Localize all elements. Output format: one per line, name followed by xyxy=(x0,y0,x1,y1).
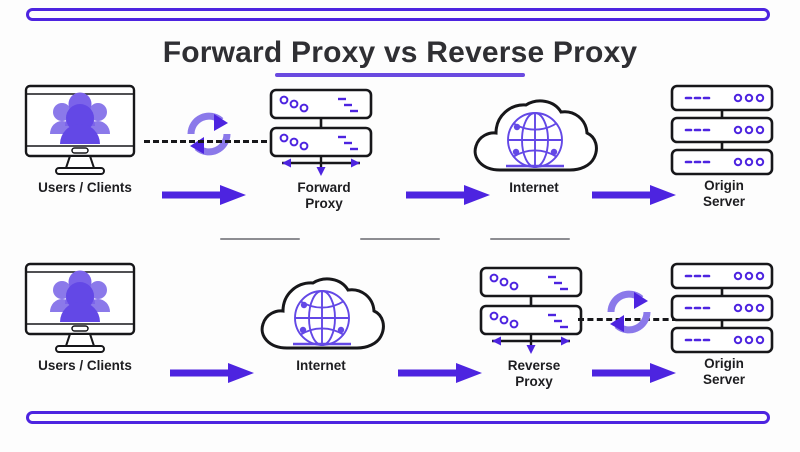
right-arrow-icon-row1-a xyxy=(162,184,248,206)
node-origin-server-row1[interactable]: Origin Server xyxy=(664,84,784,210)
proxy-server-icon-forward xyxy=(262,88,386,176)
server-rack-icon-row2 xyxy=(664,262,784,352)
title-text: Forward Proxy vs Reverse Proxy xyxy=(0,36,800,70)
node-label-users-clients-row2: Users / Clients xyxy=(20,358,150,374)
right-arrow-icon-row2-a xyxy=(170,362,256,384)
mid-divider-2 xyxy=(360,238,440,240)
node-forward-proxy[interactable]: Forward Proxy xyxy=(262,88,386,212)
node-label-internet-row2: Internet xyxy=(253,358,389,374)
node-internet-row2[interactable]: Internet xyxy=(253,264,389,374)
node-label-internet-row1: Internet xyxy=(466,180,602,196)
server-rack-icon-row1 xyxy=(664,84,784,174)
cloud-globe-icon-row2 xyxy=(253,264,389,354)
node-label-origin-server-row2: Origin Server xyxy=(664,356,784,388)
mid-divider-3 xyxy=(490,238,570,240)
node-users-clients-row1[interactable]: Users / Clients xyxy=(20,84,150,196)
top-accent-bar xyxy=(26,8,770,21)
monitor-users-icon-row2 xyxy=(20,262,150,354)
node-label-forward-proxy: Forward Proxy xyxy=(262,180,386,212)
node-label-origin-server-row1: Origin Server xyxy=(664,178,784,210)
mid-divider-1 xyxy=(220,238,300,240)
node-origin-server-row2[interactable]: Origin Server xyxy=(664,262,784,388)
title-underline xyxy=(275,73,525,77)
page-title: Forward Proxy vs Reverse Proxy xyxy=(0,36,800,77)
cloud-globe-icon-row1 xyxy=(466,86,602,176)
node-users-clients-row2[interactable]: Users / Clients xyxy=(20,262,150,374)
node-label-reverse-proxy: Reverse Proxy xyxy=(472,358,596,390)
sync-circular-arrows-icon-row2 xyxy=(598,281,660,343)
proxy-server-icon-reverse xyxy=(472,266,596,354)
bottom-accent-bar xyxy=(26,411,770,424)
node-label-users-clients-row1: Users / Clients xyxy=(20,180,150,196)
sync-circular-arrows-icon-row1 xyxy=(178,103,240,165)
monitor-users-icon xyxy=(20,84,150,176)
dashed-users-to-forward-proxy xyxy=(144,140,276,143)
diagram-canvas: Forward Proxy vs Reverse Proxy xyxy=(0,0,800,452)
node-internet-row1[interactable]: Internet xyxy=(466,86,602,196)
node-reverse-proxy[interactable]: Reverse Proxy xyxy=(472,266,596,390)
